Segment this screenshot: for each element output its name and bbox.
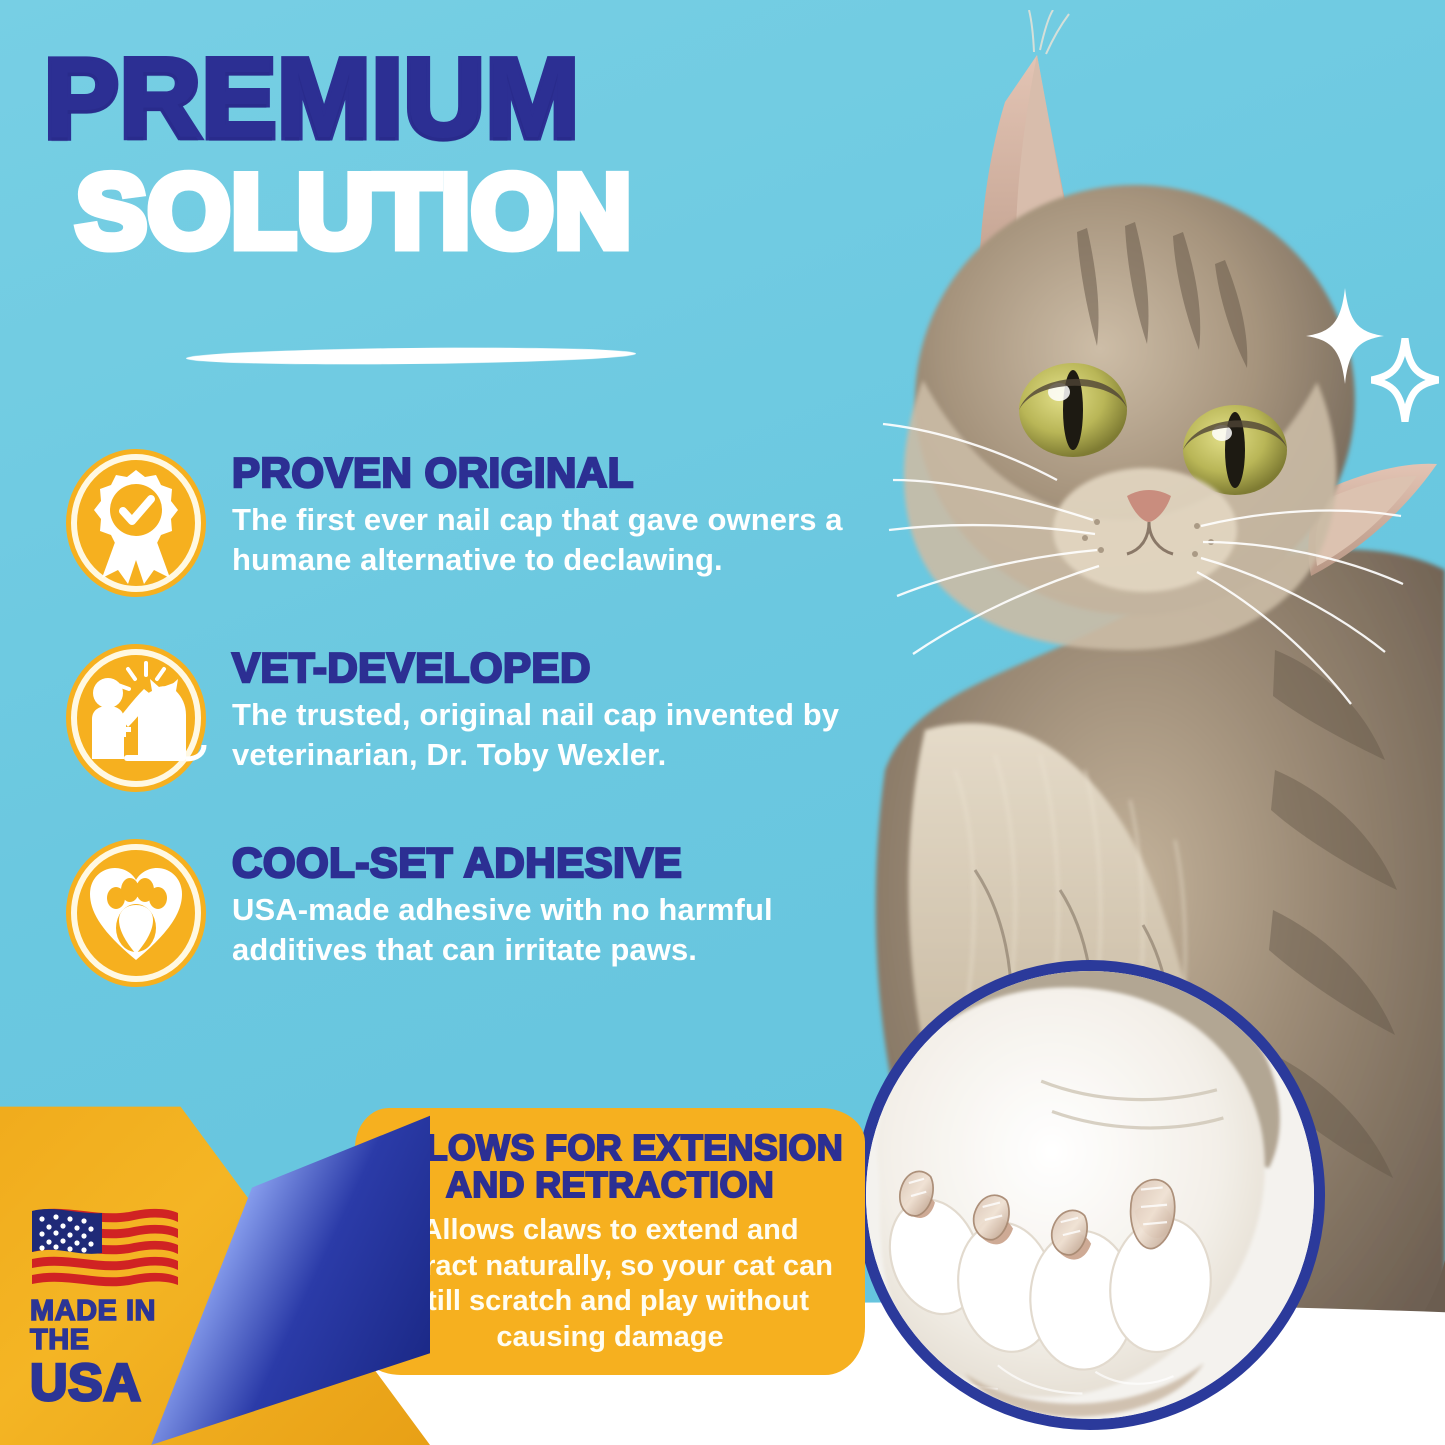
made-in-usa-badge: MADE IN THE USA [30,1201,220,1409]
made-in-the-label: MADE IN THE [30,1297,220,1355]
callout-title: ALLOWS FOR EXTENSION AND RETRACTION [373,1130,847,1203]
feature-description: The first ever nail cap that gave owners… [232,500,852,579]
usa-label: USA [30,1357,220,1409]
callout-body: Allows claws to extend and retract natur… [373,1213,847,1355]
feature-item-cool-set-adhesive: COOL-SET ADHESIVE USA-made adhesive with… [62,836,852,991]
feature-list: PROVEN ORIGINAL The first ever nail cap … [62,446,852,1031]
feature-description: USA-made adhesive with no harmful additi… [232,890,852,969]
page-title: PREMIUM SOLUTION [44,46,844,264]
feature-item-proven-original: PROVEN ORIGINAL The first ever nail cap … [62,446,852,601]
title-line-premium: PREMIUM [44,46,844,152]
award-ribbon-check-icon [62,446,210,601]
feature-item-vet-developed: VET-DEVELOPED The trusted, original nail… [62,641,852,796]
extension-retraction-callout: ALLOWS FOR EXTENSION AND RETRACTION Allo… [355,1108,865,1375]
heart-paw-icon [62,836,210,991]
product-infographic: PREMIUM SOLUTION PROVEN OR [0,0,1445,1445]
feature-title: COOL-SET ADHESIVE [232,842,852,884]
feature-title: VET-DEVELOPED [232,647,852,689]
title-line-solution: SOLUTION [76,160,859,264]
callout-title-line1: ALLOWS FOR EXTENSION [377,1127,843,1168]
feature-description: The trusted, original nail cap invented … [232,695,852,774]
sparkle-outline-icon [1371,338,1439,422]
feature-title: PROVEN ORIGINAL [232,452,852,494]
cat-paw-with-nail-caps-photo [825,930,1356,1445]
us-flag-icon [30,1201,180,1287]
vet-high-five-cat-icon [62,641,210,796]
callout-title-line2: AND RETRACTION [446,1164,774,1205]
